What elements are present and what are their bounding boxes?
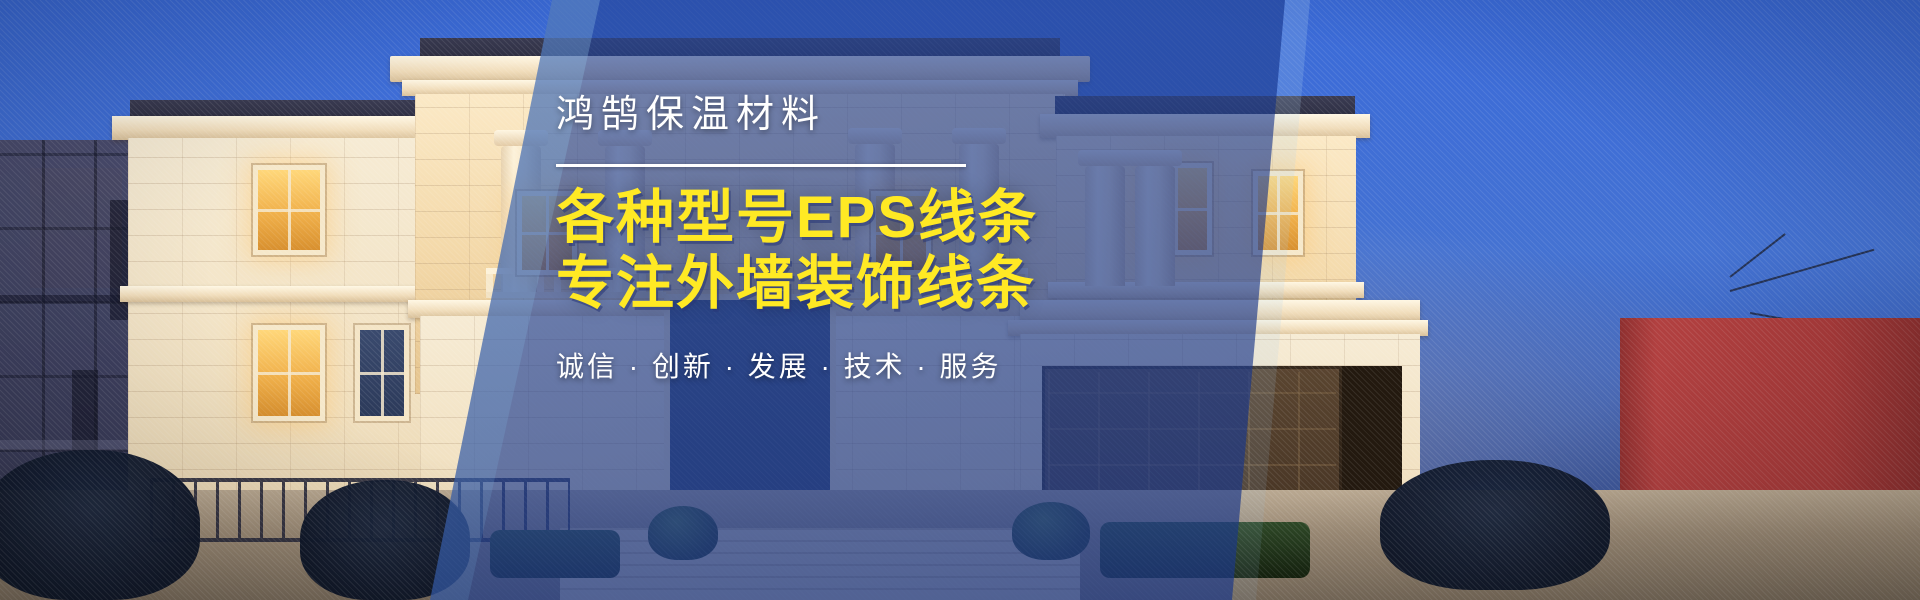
banner-text-block: 鸿鹄保温材料 各种型号EPS线条 专注外墙装饰线条 诚信 · 创新 · 发展 ·… [556, 92, 1316, 385]
window-mullion [360, 330, 404, 416]
window-lit [258, 170, 320, 250]
tree-silhouette [0, 450, 200, 600]
headline-line-1: 各种型号EPS线条 [556, 185, 1316, 251]
window-mullion [258, 330, 320, 416]
left-wing-mid-cornice [120, 286, 436, 302]
headline-line-2: 专注外墙装饰线条 [556, 251, 1316, 317]
tree-silhouette [1380, 460, 1610, 590]
tagline: 诚信 · 创新 · 发展 · 技术 · 服务 [556, 345, 1316, 385]
window-lit [258, 330, 320, 416]
text-divider [556, 164, 966, 167]
window-dark [360, 330, 404, 416]
hero-banner: 鸿鹄保温材料 各种型号EPS线条 专注外墙装饰线条 诚信 · 创新 · 发展 ·… [0, 0, 1920, 600]
brand-name: 鸿鹄保温材料 [556, 92, 1316, 140]
window-mullion [258, 170, 320, 250]
left-wing-cornice [112, 116, 442, 140]
